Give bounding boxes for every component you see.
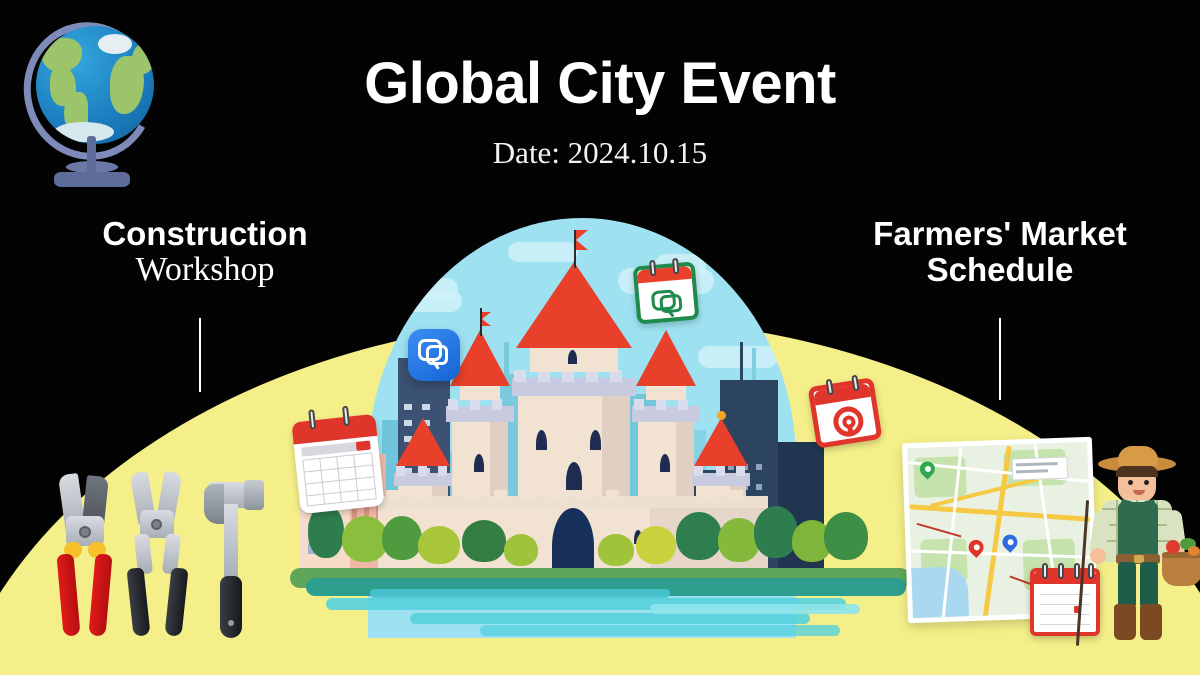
label-left-line1: Construction	[60, 216, 350, 252]
connector-line-right	[999, 318, 1001, 400]
event-poster: Global City Event Date: 2024.10.15 Const…	[0, 0, 1200, 675]
farmer-character-icon	[1090, 448, 1185, 643]
label-construction-workshop: Construction Workshop	[60, 216, 350, 288]
hammer-icon	[200, 476, 264, 640]
label-left-line2: Workshop	[60, 252, 350, 289]
page-title: Global City Event	[0, 54, 1200, 115]
label-right-line1: Farmers' Market	[830, 216, 1170, 252]
map-pin-blue	[999, 532, 1020, 553]
connector-line-left	[199, 318, 201, 392]
event-date: Date: 2024.10.15	[0, 135, 1200, 171]
castle-flag-icon	[576, 230, 588, 250]
label-farmers-market-schedule: Farmers' Market Schedule	[830, 216, 1170, 287]
pliers-red-icon	[48, 470, 122, 640]
label-right-line2: Schedule	[830, 252, 1170, 288]
red-calendar-at-icon	[808, 377, 883, 449]
chat-search-app-icon	[408, 329, 460, 381]
pliers-black-icon	[126, 470, 196, 640]
tools-group	[48, 470, 258, 640]
white-calendar-icon	[291, 414, 384, 514]
green-calendar-icon	[633, 261, 700, 324]
